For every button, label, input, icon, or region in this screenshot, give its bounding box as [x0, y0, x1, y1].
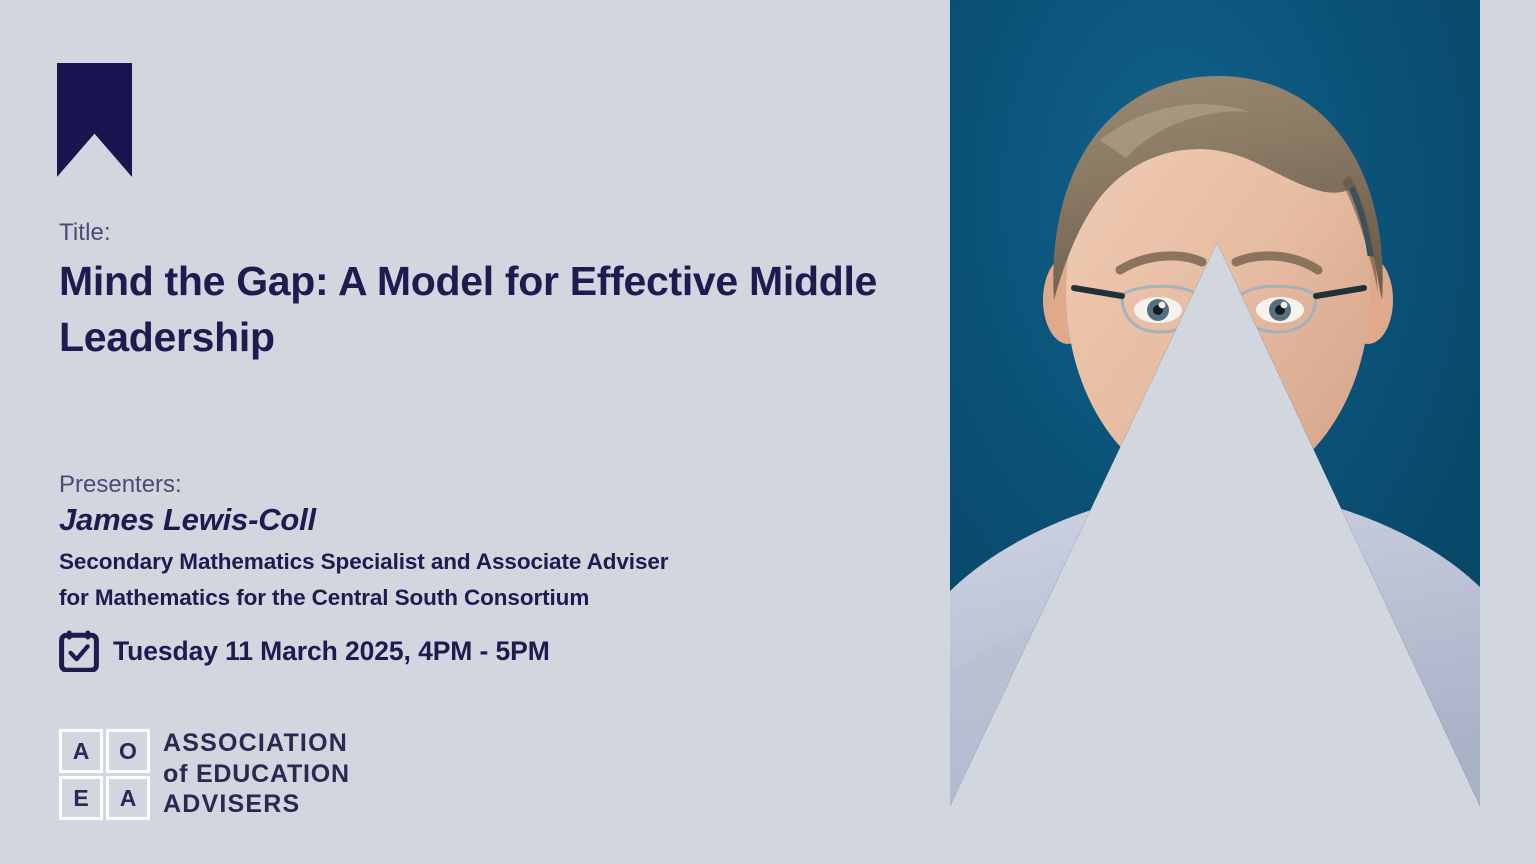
promo-card: Title: Mind the Gap: A Model for Effecti… [0, 0, 1536, 864]
aoea-logo: A O E A ASSOCIATION of EDUCATION ADVISER… [59, 729, 350, 820]
calendar-check-icon [59, 630, 99, 672]
presenter-photo [950, 0, 1480, 806]
logo-cell-3: E [59, 776, 103, 820]
title-section: Title: Mind the Gap: A Model for Effecti… [59, 218, 889, 366]
logo-line-3: ADVISERS [163, 790, 350, 820]
logo-cell-1: A [59, 729, 103, 773]
presenter-role: Secondary Mathematics Specialist and Ass… [59, 544, 899, 616]
logo-wordmark: ASSOCIATION of EDUCATION ADVISERS [163, 729, 350, 820]
logo-cell-4: A [106, 776, 150, 820]
logo-letter-grid: A O E A [59, 729, 150, 820]
page-title: Mind the Gap: A Model for Effective Midd… [59, 254, 889, 366]
event-date-row: Tuesday 11 March 2025, 4PM - 5PM [59, 630, 550, 672]
presenter-role-line-2: for Mathematics for the Central South Co… [59, 585, 589, 610]
presenter-label: Presenters: [59, 470, 899, 500]
title-label: Title: [59, 218, 889, 248]
presenter-role-line-1: Secondary Mathematics Specialist and Ass… [59, 549, 668, 574]
presenter-section: Presenters: James Lewis-Coll Secondary M… [59, 470, 899, 616]
logo-line-2: of EDUCATION [163, 760, 350, 790]
left-content-panel: Title: Mind the Gap: A Model for Effecti… [0, 0, 950, 864]
logo-cell-2: O [106, 729, 150, 773]
portrait-illustration [950, 0, 1480, 806]
presenter-name: James Lewis-Coll [59, 502, 899, 539]
event-date-text: Tuesday 11 March 2025, 4PM - 5PM [113, 636, 550, 667]
logo-line-1: ASSOCIATION [163, 729, 350, 759]
bookmark-icon [57, 63, 132, 177]
